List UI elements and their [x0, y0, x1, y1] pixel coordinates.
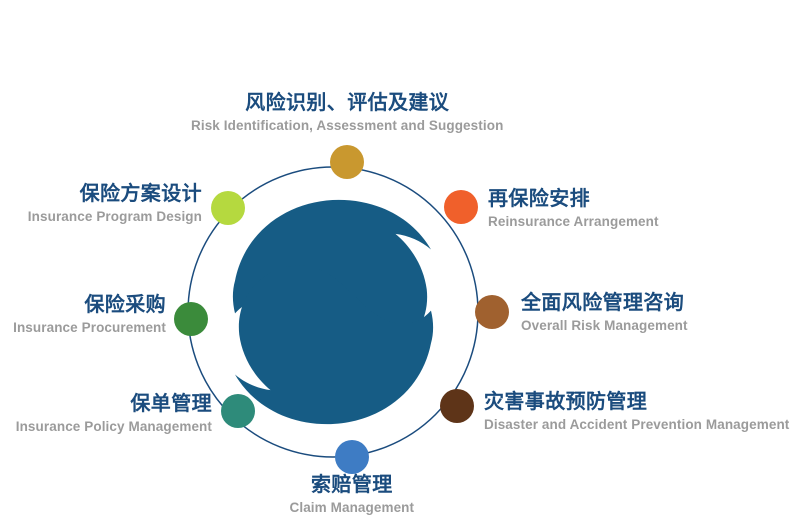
node-label-en-disaster-prevention: Disaster and Accident Prevention Managem…: [484, 416, 789, 434]
node-dot-insurance-policy-management[interactable]: [221, 394, 255, 428]
node-label-en-claim-management: Claim Management: [290, 499, 415, 517]
node-dot-insurance-procurement[interactable]: [174, 302, 208, 336]
node-label-reinsurance-arrangement: 再保险安排Reinsurance Arrangement: [488, 188, 659, 230]
node-label-overall-risk-management: 全面风险管理咨询Overall Risk Management: [521, 292, 688, 334]
node-label-claim-management: 索赔管理Claim Management: [290, 474, 415, 516]
node-label-en-insurance-program-design: Insurance Program Design: [0, 208, 202, 226]
node-dot-reinsurance-arrangement[interactable]: [444, 190, 478, 224]
node-dot-risk-identification[interactable]: [330, 145, 364, 179]
wave-globe-logo: [233, 200, 433, 424]
node-label-insurance-policy-management: 保单管理Insurance Policy Management: [0, 393, 212, 435]
node-label-zh-reinsurance-arrangement: 再保险安排: [488, 188, 659, 212]
node-label-zh-claim-management: 索赔管理: [290, 474, 415, 498]
node-label-en-insurance-procurement: Insurance Procurement: [0, 319, 166, 337]
node-label-risk-identification: 风险识别、评估及建议Risk Identification, Assessmen…: [191, 92, 503, 134]
node-label-en-overall-risk-management: Overall Risk Management: [521, 317, 688, 335]
node-label-en-insurance-policy-management: Insurance Policy Management: [0, 418, 212, 436]
node-dot-overall-risk-management[interactable]: [475, 295, 509, 329]
node-dot-claim-management[interactable]: [335, 440, 369, 474]
risk-management-service-wheel-diagram: 风险识别、评估及建议Risk Identification, Assessmen…: [0, 0, 800, 525]
node-label-insurance-program-design: 保险方案设计Insurance Program Design: [0, 183, 202, 225]
node-label-disaster-prevention: 灾害事故预防管理Disaster and Accident Prevention…: [484, 391, 789, 433]
node-dot-insurance-program-design[interactable]: [211, 191, 245, 225]
node-label-zh-insurance-procurement: 保险采购: [0, 294, 166, 318]
node-label-zh-insurance-program-design: 保险方案设计: [0, 183, 202, 207]
node-label-zh-disaster-prevention: 灾害事故预防管理: [484, 391, 789, 415]
node-label-en-reinsurance-arrangement: Reinsurance Arrangement: [488, 213, 659, 231]
node-label-zh-insurance-policy-management: 保单管理: [0, 393, 212, 417]
node-label-zh-overall-risk-management: 全面风险管理咨询: [521, 292, 688, 316]
node-dot-disaster-prevention[interactable]: [440, 389, 474, 423]
diagram-canvas: [0, 0, 800, 525]
node-label-zh-risk-identification: 风险识别、评估及建议: [191, 92, 503, 116]
node-label-insurance-procurement: 保险采购Insurance Procurement: [0, 294, 166, 336]
node-label-en-risk-identification: Risk Identification, Assessment and Sugg…: [191, 117, 503, 135]
